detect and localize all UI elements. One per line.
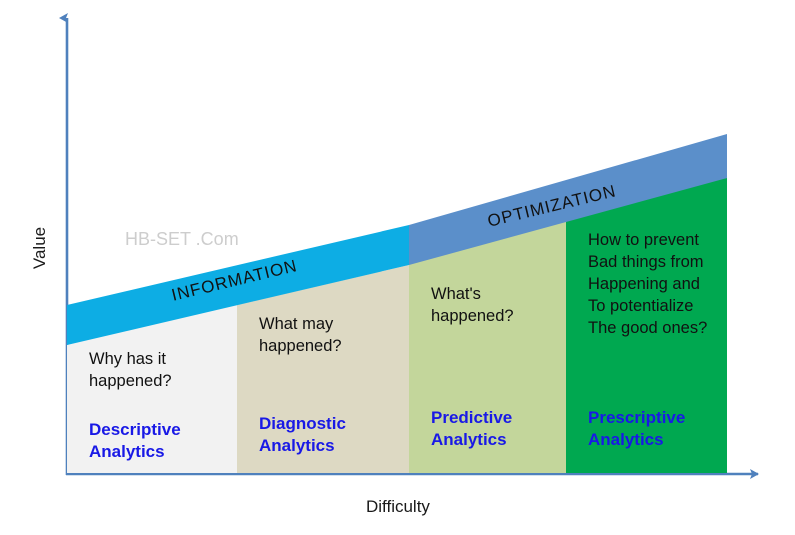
column-descriptive-question: Why has it happened?: [89, 348, 231, 392]
column-predictive-labels: What's happened? Predictive Analytics: [409, 0, 566, 473]
column-descriptive-labels: Why has it happened? Descriptive Analyti…: [67, 0, 237, 473]
column-diagnostic-labels: What may happened? Diagnostic Analytics: [237, 0, 409, 473]
column-predictive-title: Predictive Analytics: [431, 407, 562, 451]
column-predictive-question: What's happened?: [431, 283, 560, 327]
column-prescriptive-title: Prescriptive Analytics: [588, 407, 723, 451]
column-prescriptive-question: How to prevent Bad things from Happening…: [588, 229, 721, 339]
column-prescriptive-labels: How to prevent Bad things from Happening…: [566, 0, 727, 473]
column-descriptive-title: Descriptive Analytics: [89, 419, 233, 463]
analytics-maturity-diagram: Value Difficulty INFORMATION OPTIMIZATIO…: [0, 0, 795, 535]
column-diagnostic-title: Diagnostic Analytics: [259, 413, 405, 457]
column-diagnostic-question: What may happened?: [259, 313, 403, 357]
